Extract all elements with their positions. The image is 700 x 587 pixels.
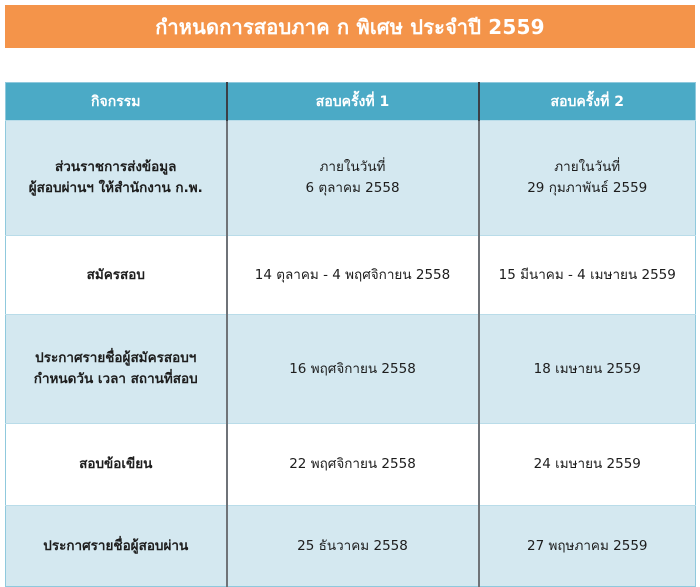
cell-round-1: 14 ตุลาคม - 4 พฤศจิกายน 2558	[227, 236, 479, 315]
column-header-round-2: สอบครั้งที่ 2	[479, 83, 696, 121]
cell-activity-line-2: ผู้สอบผ่านฯ ให้สำนักงาน ก.พ.	[12, 178, 220, 199]
cell-round-1: 16 พฤศจิกายน 2558	[227, 315, 479, 424]
cell-round-1: 25 ธันวาคม 2558	[227, 506, 479, 587]
cell-round-2-line-1: ภายในวันที่	[486, 157, 690, 178]
exam-schedule-table: กิจกรรม สอบครั้งที่ 1 สอบครั้งที่ 2 ส่วน…	[5, 82, 696, 587]
cell-round-2: 24 เมษายน 2559	[479, 424, 696, 506]
table-row: ประกาศรายชื่อผู้สมัครสอบฯ กำหนดวัน เวลา …	[6, 315, 696, 424]
cell-activity: ประกาศรายชื่อผู้สอบผ่าน	[6, 506, 227, 587]
cell-activity-line-1: สอบข้อเขียน	[12, 454, 220, 475]
table-row: สอบข้อเขียน 22 พฤศจิกายน 2558 24 เมษายน …	[6, 424, 696, 506]
cell-round-1-line-1: ภายในวันที่	[234, 157, 472, 178]
cell-round-2-line-1: 18 เมษายน 2559	[486, 359, 690, 380]
table-header-row: กิจกรรม สอบครั้งที่ 1 สอบครั้งที่ 2	[6, 83, 696, 121]
cell-round-1: ภายในวันที่ 6 ตุลาคม 2558	[227, 121, 479, 236]
cell-round-1-line-1: 16 พฤศจิกายน 2558	[234, 359, 472, 380]
cell-round-2: 18 เมษายน 2559	[479, 315, 696, 424]
cell-activity: ประกาศรายชื่อผู้สมัครสอบฯ กำหนดวัน เวลา …	[6, 315, 227, 424]
cell-activity-line-1: สมัครสอบ	[12, 265, 220, 286]
table-body: ส่วนราชการส่งข้อมูล ผู้สอบผ่านฯ ให้สำนัก…	[6, 121, 696, 587]
table-row: สมัครสอบ 14 ตุลาคม - 4 พฤศจิกายน 2558 15…	[6, 236, 696, 315]
cell-activity: ส่วนราชการส่งข้อมูล ผู้สอบผ่านฯ ให้สำนัก…	[6, 121, 227, 236]
cell-round-2-line-1: 24 เมษายน 2559	[486, 454, 690, 475]
column-header-activity: กิจกรรม	[6, 83, 227, 121]
cell-round-2-line-1: 27 พฤษภาคม 2559	[486, 536, 690, 557]
cell-round-2: ภายในวันที่ 29 กุมภาพันธ์ 2559	[479, 121, 696, 236]
exam-schedule-page: กำหนดการสอบภาค ก พิเศษ ประจำปี 2559 กิจก…	[0, 0, 700, 575]
cell-round-2: 27 พฤษภาคม 2559	[479, 506, 696, 587]
table-header: กิจกรรม สอบครั้งที่ 1 สอบครั้งที่ 2	[6, 83, 696, 121]
cell-round-1-line-1: 14 ตุลาคม - 4 พฤศจิกายน 2558	[234, 265, 472, 286]
page-title: กำหนดการสอบภาค ก พิเศษ ประจำปี 2559	[155, 17, 545, 37]
cell-activity-line-1: ประกาศรายชื่อผู้สอบผ่าน	[12, 536, 220, 557]
cell-round-1-line-1: 22 พฤศจิกายน 2558	[234, 454, 472, 475]
cell-round-2: 15 มีนาคม - 4 เมษายน 2559	[479, 236, 696, 315]
cell-activity-line-2: กำหนดวัน เวลา สถานที่สอบ	[12, 369, 220, 390]
cell-round-1-line-1: 25 ธันวาคม 2558	[234, 536, 472, 557]
cell-round-2-line-1: 15 มีนาคม - 4 เมษายน 2559	[486, 265, 690, 286]
cell-round-1: 22 พฤศจิกายน 2558	[227, 424, 479, 506]
cell-activity-line-1: ประกาศรายชื่อผู้สมัครสอบฯ	[12, 348, 220, 369]
table-row: ส่วนราชการส่งข้อมูล ผู้สอบผ่านฯ ให้สำนัก…	[6, 121, 696, 236]
cell-activity-line-1: ส่วนราชการส่งข้อมูล	[12, 157, 220, 178]
cell-round-2-line-2: 29 กุมภาพันธ์ 2559	[486, 178, 690, 199]
column-header-round-1: สอบครั้งที่ 1	[227, 83, 479, 121]
cell-activity: สอบข้อเขียน	[6, 424, 227, 506]
table-row: ประกาศรายชื่อผู้สอบผ่าน 25 ธันวาคม 2558 …	[6, 506, 696, 587]
page-title-banner: กำหนดการสอบภาค ก พิเศษ ประจำปี 2559	[5, 5, 695, 48]
cell-activity: สมัครสอบ	[6, 236, 227, 315]
cell-round-1-line-2: 6 ตุลาคม 2558	[234, 178, 472, 199]
